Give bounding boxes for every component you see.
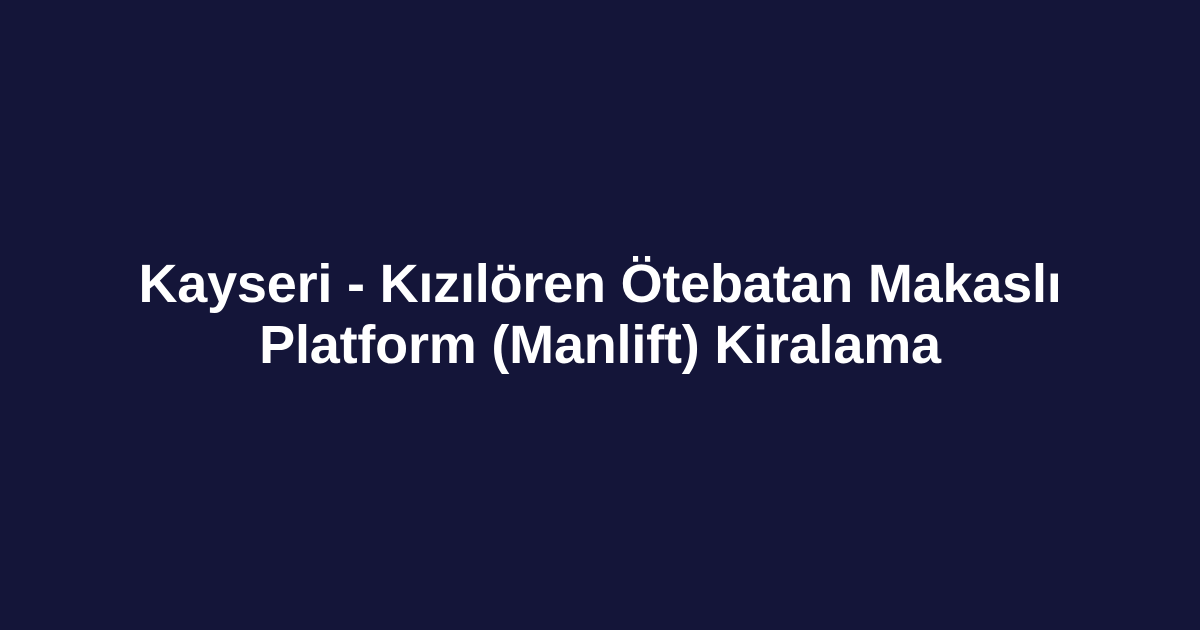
card-content-wrapper: Kayseri - Kızılören Ötebatan Makaslı Pla… bbox=[0, 254, 1200, 376]
page-title: Kayseri - Kızılören Ötebatan Makaslı Pla… bbox=[135, 254, 1065, 376]
og-preview-card: Kayseri - Kızılören Ötebatan Makaslı Pla… bbox=[0, 0, 1200, 630]
